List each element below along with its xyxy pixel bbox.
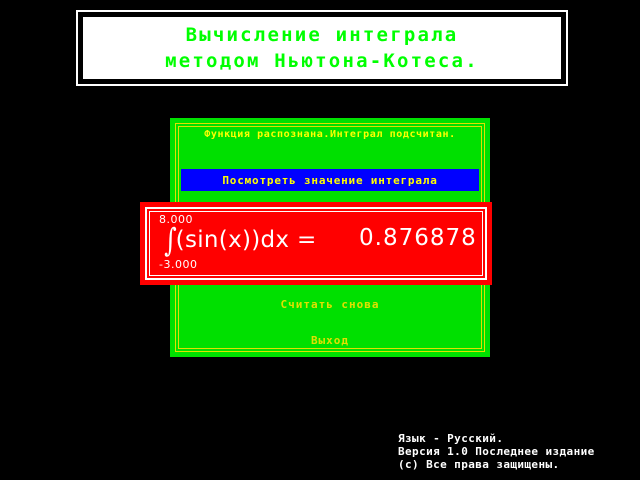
integral-expression: ∫ (sin(x))dx = [162, 224, 317, 256]
integral-sign-icon: ∫ [164, 224, 177, 256]
recalculate-button[interactable]: Считать снова [170, 293, 490, 312]
footer-line-version: Версия 1.0 Последнее издание [398, 445, 595, 458]
integrand-expression: (sin(x))dx = [176, 227, 317, 253]
recalculate-button-label: Считать снова [280, 298, 379, 311]
status-message: Функция распознана.Интеграл подсчитан. [170, 129, 490, 140]
exit-button-label: Выход [311, 334, 349, 347]
footer-line-language: Язык - Русский. [398, 432, 595, 445]
app-title-line-2: методом Ньютона-Котеса. [165, 48, 479, 74]
title-banner: Вычисление интеграла методом Ньютона-Кот… [76, 10, 568, 86]
integral-result-value: 0.876878 [359, 225, 477, 251]
exit-button[interactable]: Выход [170, 329, 490, 348]
integral-lower-limit: -3.000 [159, 258, 197, 271]
view-integral-value-button-label: Посмотреть значение интеграла [222, 174, 437, 187]
footer: Язык - Русский. Версия 1.0 Последнее изд… [398, 432, 595, 471]
integral-result-panel: 8.000 -3.000 ∫ (sin(x))dx = 0.876878 [140, 202, 492, 285]
view-integral-value-button[interactable]: Посмотреть значение интеграла [181, 169, 479, 191]
title-banner-inner: Вычисление интеграла методом Ньютона-Кот… [81, 15, 563, 81]
app-title-line-1: Вычисление интеграла [186, 22, 459, 48]
footer-line-copyright: (с) Все права защищены. [398, 458, 595, 471]
